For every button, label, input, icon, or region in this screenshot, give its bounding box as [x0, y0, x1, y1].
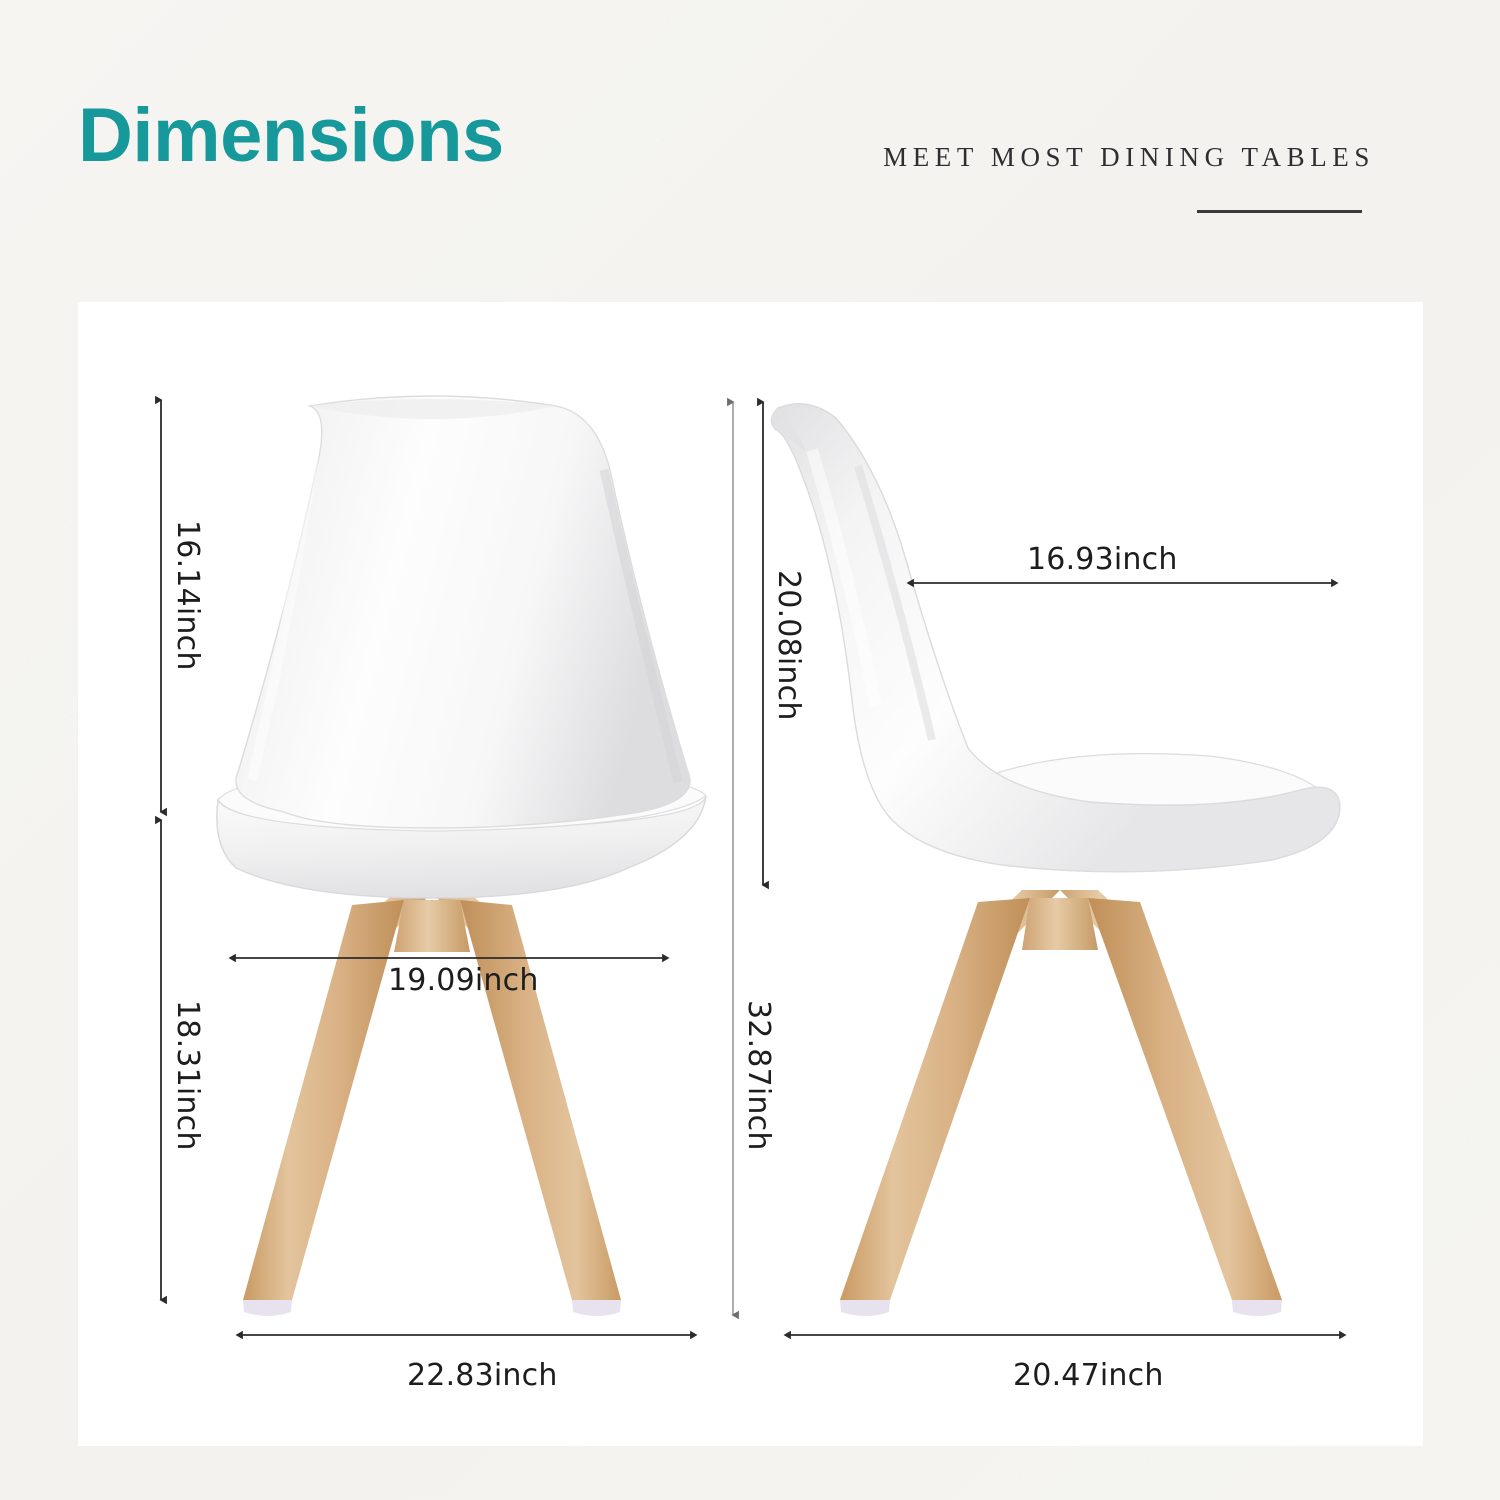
label-overall-height: 32.87inch: [741, 1000, 776, 1151]
label-overall-width: 22.83inch: [407, 1358, 558, 1393]
label-back-height-side: 20.08inch: [771, 570, 806, 721]
subtitle-underline: [1197, 210, 1362, 213]
label-back-height: 16.14inch: [170, 520, 205, 671]
page-subtitle: MEET MOST DINING TABLES: [883, 142, 1375, 173]
product-diagram-panel: [78, 302, 1423, 1446]
page-title: Dimensions: [78, 98, 504, 174]
label-overall-depth: 20.47inch: [1013, 1358, 1164, 1393]
label-seat-depth: 16.93inch: [1027, 542, 1178, 577]
label-seat-height: 18.31inch: [170, 1000, 205, 1151]
label-seat-width: 19.09inch: [388, 963, 539, 998]
infographic-root: Dimensions MEET MOST DINING TABLES: [0, 0, 1500, 1500]
